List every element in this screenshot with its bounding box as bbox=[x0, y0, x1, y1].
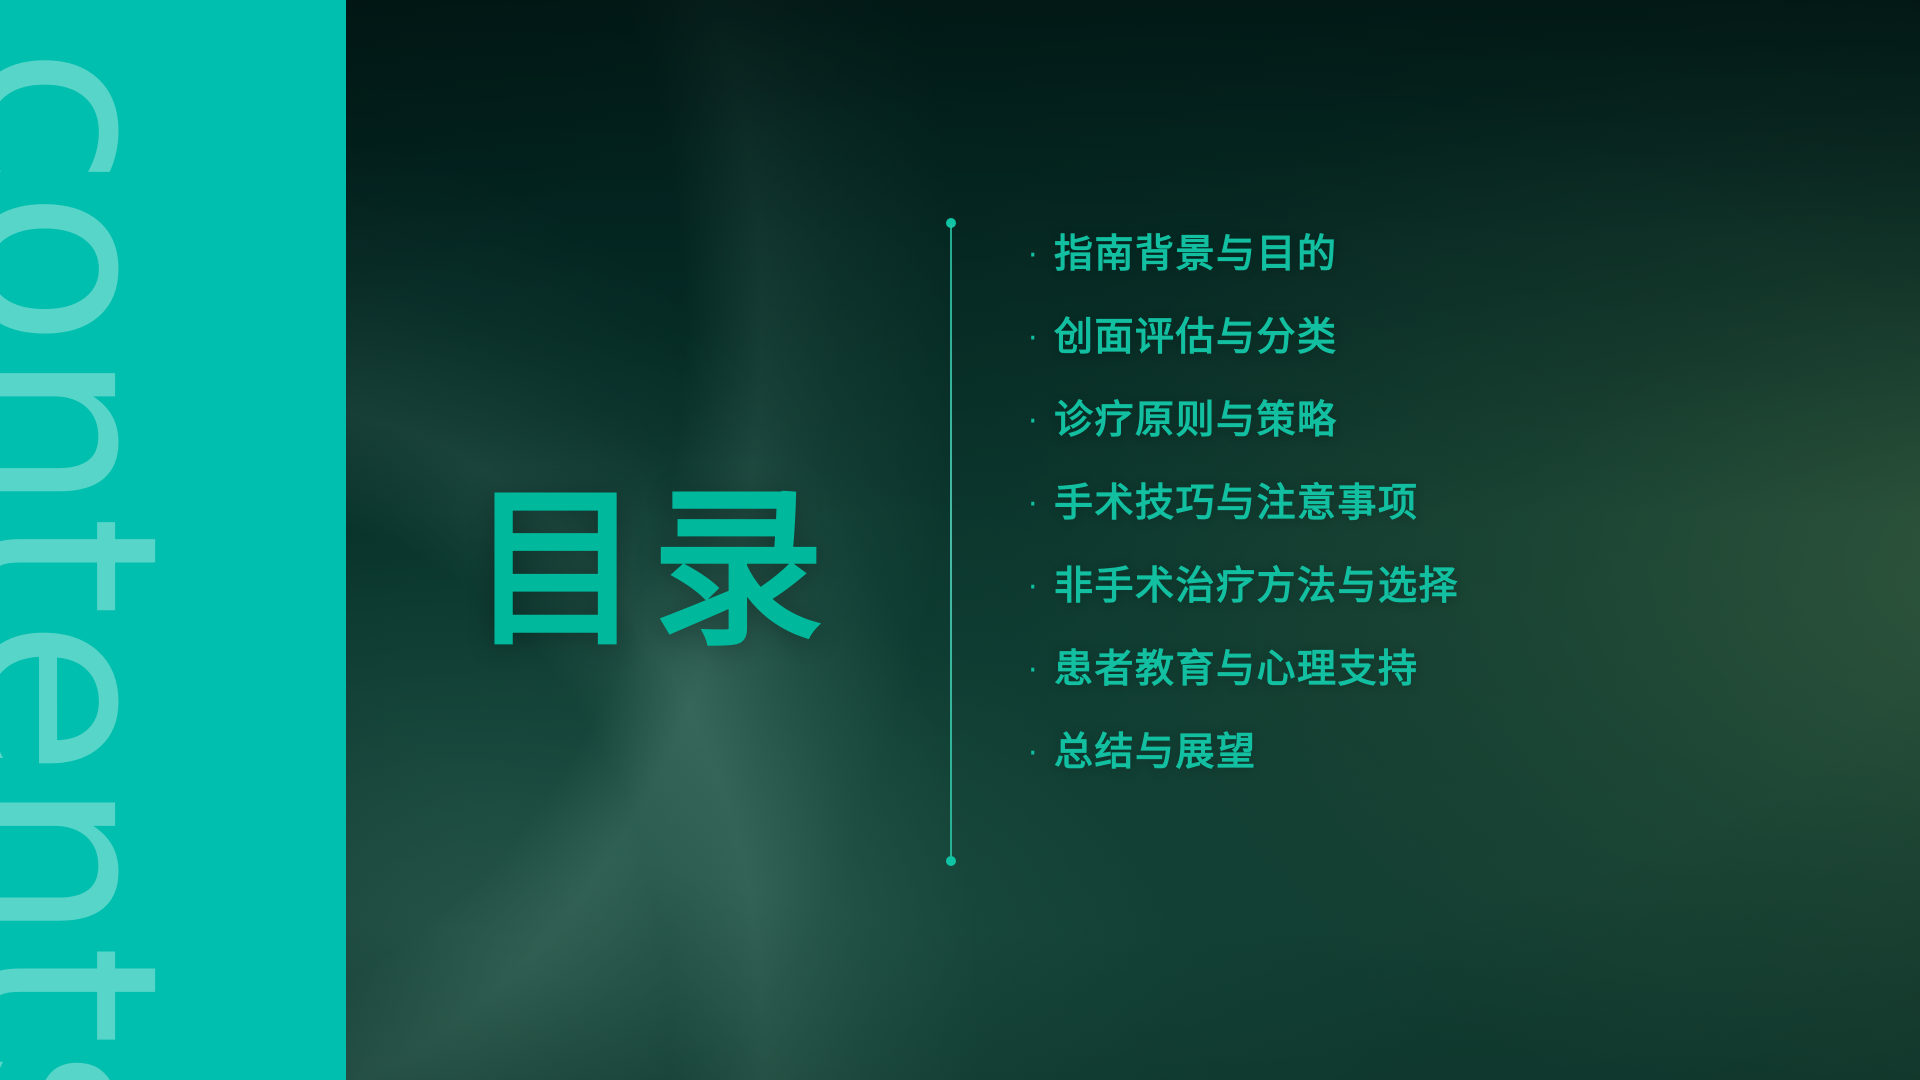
toc-item-6[interactable]: · 患者教育与心理支持 bbox=[1028, 629, 1728, 712]
toc-item-2[interactable]: · 创面评估与分类 bbox=[1028, 297, 1728, 380]
bullet-dot-icon: · bbox=[1028, 739, 1054, 769]
toc-item-label: 患者教育与心理支持 bbox=[1054, 649, 1419, 692]
sidebar-panel: contents bbox=[0, 0, 346, 1080]
bullet-dot-icon: · bbox=[1028, 407, 1054, 437]
bullet-dot-icon: · bbox=[1028, 656, 1054, 686]
toc-item-4[interactable]: · 手术技巧与注意事项 bbox=[1028, 463, 1728, 546]
bullet-dot-icon: · bbox=[1028, 241, 1054, 271]
toc-list: · 指南背景与目的 · 创面评估与分类 · 诊疗原则与策略 · 手术技巧与注意事… bbox=[1028, 214, 1728, 795]
toc-item-label: 手术技巧与注意事项 bbox=[1054, 483, 1419, 526]
toc-item-1[interactable]: · 指南背景与目的 bbox=[1028, 214, 1728, 297]
toc-item-label: 总结与展望 bbox=[1054, 732, 1257, 775]
contents-slide: contents 目录 · 指南背景与目的 · 创面评估与分类 · 诊疗原则与策… bbox=[0, 0, 1920, 1080]
page-title: 目录 bbox=[470, 484, 834, 656]
rail-dot-bottom-icon bbox=[946, 856, 956, 866]
sidebar-contents-wordmark: contents bbox=[0, 46, 173, 1080]
toc-item-label: 非手术治疗方法与选择 bbox=[1054, 566, 1459, 609]
toc-divider-rail bbox=[946, 218, 956, 866]
toc-item-5[interactable]: · 非手术治疗方法与选择 bbox=[1028, 546, 1728, 629]
toc-item-label: 指南背景与目的 bbox=[1054, 234, 1338, 277]
toc-item-label: 诊疗原则与策略 bbox=[1054, 400, 1338, 443]
toc-item-3[interactable]: · 诊疗原则与策略 bbox=[1028, 380, 1728, 463]
bullet-dot-icon: · bbox=[1028, 324, 1054, 354]
rail-line bbox=[950, 224, 952, 860]
toc-item-label: 创面评估与分类 bbox=[1054, 317, 1338, 360]
bullet-dot-icon: · bbox=[1028, 490, 1054, 520]
bullet-dot-icon: · bbox=[1028, 573, 1054, 603]
toc-item-7[interactable]: · 总结与展望 bbox=[1028, 712, 1728, 795]
